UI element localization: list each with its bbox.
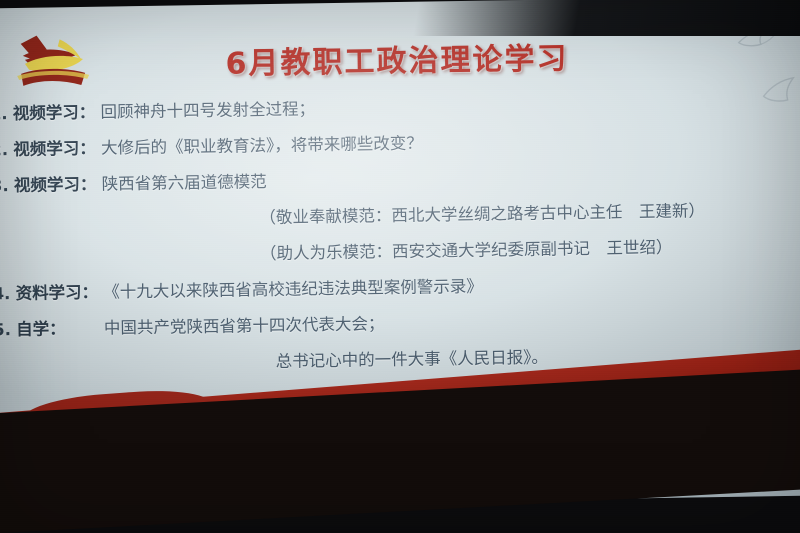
list-item-text: 《十九大以来陕西省高校违纪违法典型案例警示录》: [103, 277, 483, 302]
slide-body-list: 1. 视频学习： 回顾神舟十四号发射全过程； 2. 视频学习： 大修后的《职业教…: [0, 88, 800, 389]
projector-photo: 中华人民共和国万岁: [0, 0, 800, 533]
list-item-lead: 自学：: [16, 319, 66, 339]
list-item-number: 3.: [0, 176, 9, 195]
list-item-lead: 资料学习：: [15, 283, 98, 303]
list-item-number: 1.: [0, 104, 8, 123]
list-item-text: 回顾神舟十四号发射全过程；: [100, 99, 315, 121]
list-item-text: 大修后的《职业教育法》，将带来哪些改变？: [101, 134, 423, 158]
list-item-lead: 视频学习：: [13, 139, 96, 159]
slide-title: 6月教职工政治理论学习: [0, 30, 800, 87]
list-subitem-text: 总书记心中的一件大事《人民日报》。: [276, 348, 549, 371]
list-subitem-text: （敬业奉献模范：西北大学丝绸之路考古中心主任 王建新）: [259, 201, 705, 227]
list-item-lead: 视频学习：: [13, 103, 96, 123]
list-item-number: 4.: [0, 284, 11, 303]
list-item-number: 2.: [0, 140, 8, 159]
list-item-text: 陕西省第六届道德模范: [101, 172, 266, 194]
list-item-text: 中国共产党陕西省第十四次代表大会；: [71, 314, 385, 338]
list-subitem-text: （助人为乐模范：西安交通大学纪委原副书记 王世绍）: [260, 238, 673, 263]
list-item-lead: 视频学习：: [14, 175, 97, 195]
list-item-number: 5.: [0, 320, 11, 339]
